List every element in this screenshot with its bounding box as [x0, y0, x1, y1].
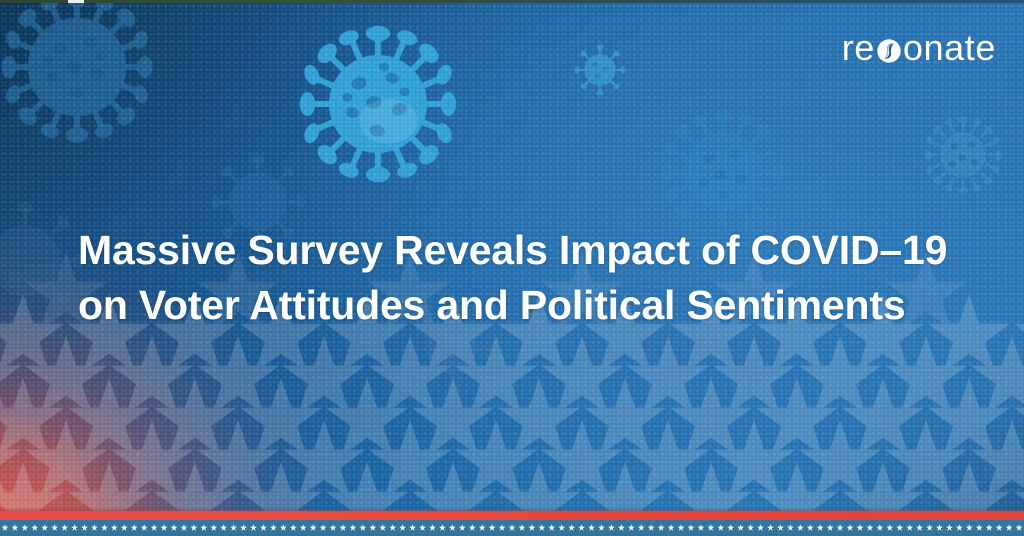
logo-swirl-s-icon — [876, 34, 902, 60]
banner-graphic: reonate Massive Survey Reveals Impact of… — [0, 0, 1024, 536]
logo-wordmark: reonate — [842, 28, 996, 66]
red-stripe — [0, 511, 1024, 520]
headline-line-2: on Voter Attitudes and Political Sentime… — [78, 278, 978, 333]
logo-text-prefix: re — [842, 30, 875, 66]
star-band — [0, 520, 1024, 536]
top-hairline — [0, 0, 1024, 3]
headline-line-1: Massive Survey Reveals Impact of COVID–1… — [78, 223, 978, 278]
logo-text-suffix: onate — [903, 30, 996, 66]
page-title: Massive Survey Reveals Impact of COVID–1… — [78, 223, 978, 333]
resonate-logo[interactable]: reonate — [842, 27, 996, 67]
top-notch-mark — [68, 0, 84, 3]
